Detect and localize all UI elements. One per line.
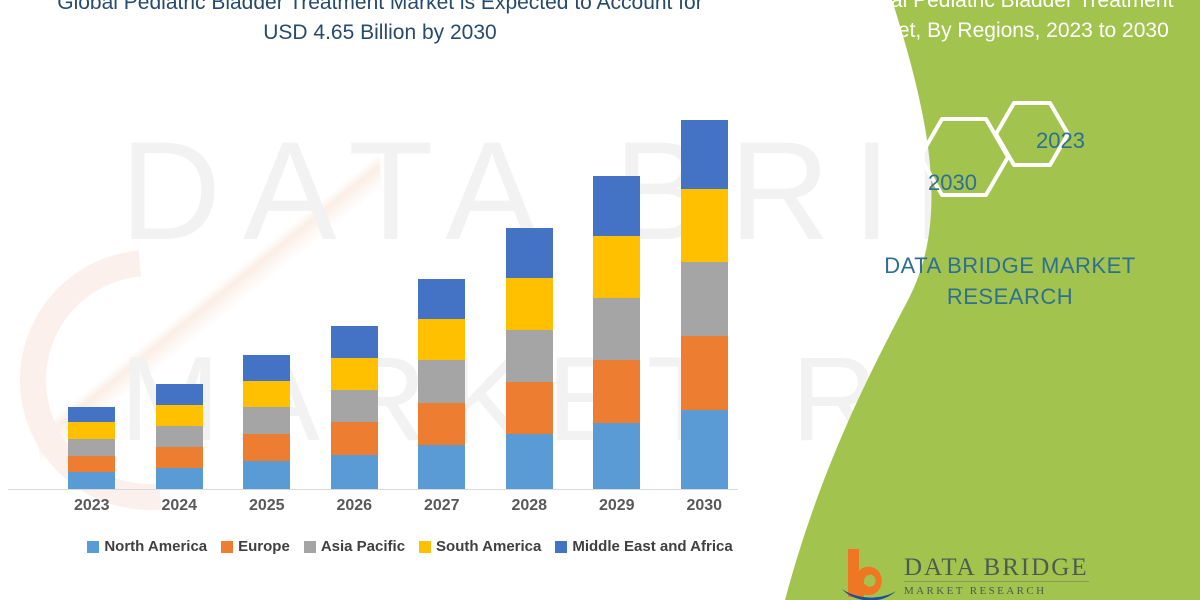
- stacked-bar[interactable]: [68, 407, 115, 489]
- logo-wordmark: DATA BRIDGE MARKET RESEARCH: [904, 545, 1089, 598]
- bar-segment-south-america[interactable]: [243, 381, 290, 407]
- bar-segment-middle-east-and-africa[interactable]: [593, 176, 640, 236]
- bar-group-2025[interactable]: [223, 120, 311, 489]
- bar-segment-south-america[interactable]: [506, 278, 553, 330]
- bar-segment-asia-pacific[interactable]: [68, 439, 115, 456]
- x-axis-line: [8, 489, 738, 490]
- bar-segment-middle-east-and-africa[interactable]: [156, 384, 203, 405]
- legend-swatch-icon: [221, 541, 233, 553]
- legend-swatch-icon: [304, 541, 316, 553]
- bar-segment-europe[interactable]: [68, 456, 115, 473]
- legend-item-asia-pacific[interactable]: Asia Pacific: [304, 538, 405, 555]
- legend-label: Middle East and Africa: [572, 538, 732, 555]
- brand-panel: Global Pediatric Bladder Treatment Marke…: [780, 0, 1200, 600]
- stacked-bar[interactable]: [506, 228, 553, 489]
- bar-group-2026[interactable]: [311, 120, 399, 489]
- x-tick-2023: 2023: [48, 497, 136, 515]
- legend-label: Asia Pacific: [321, 538, 405, 555]
- bar-segment-south-america[interactable]: [593, 236, 640, 298]
- bar-segment-north-america[interactable]: [68, 472, 115, 489]
- bar-segment-europe[interactable]: [593, 360, 640, 423]
- bar-group-2027[interactable]: [398, 120, 486, 489]
- bar-segment-south-america[interactable]: [68, 422, 115, 439]
- brand-name-line2: RESEARCH: [840, 281, 1180, 312]
- brand-name: DATA BRIDGE MARKET RESEARCH: [840, 250, 1180, 312]
- hexagon-shapes: [900, 92, 1130, 222]
- chart-title: Global Pediatric Bladder Treatment Marke…: [40, 0, 720, 48]
- bar-segment-asia-pacific[interactable]: [681, 262, 728, 336]
- bar-segment-asia-pacific[interactable]: [418, 360, 465, 402]
- bar-group-2023[interactable]: [48, 120, 136, 489]
- chart-panel: Global Pediatric Bladder Treatment Marke…: [0, 0, 840, 600]
- legend-item-south-america[interactable]: South America: [419, 538, 541, 555]
- company-logo: DATA BRIDGE MARKET RESEARCH: [840, 545, 1170, 600]
- logo-sub-text: MARKET RESEARCH: [904, 581, 1089, 598]
- x-tick-2024: 2024: [136, 497, 224, 515]
- bar-segment-asia-pacific[interactable]: [593, 298, 640, 361]
- bar-segment-north-america[interactable]: [681, 410, 728, 489]
- brand-panel-title: Global Pediatric Bladder Treatment Marke…: [840, 0, 1180, 46]
- bar-segment-south-america[interactable]: [331, 358, 378, 390]
- stacked-bar[interactable]: [418, 279, 465, 489]
- stacked-bar[interactable]: [331, 326, 378, 489]
- bar-segment-north-america[interactable]: [506, 434, 553, 489]
- legend-item-middle-east-and-africa[interactable]: Middle East and Africa: [555, 538, 732, 555]
- x-tick-2028: 2028: [486, 497, 574, 515]
- logo-main-text: DATA BRIDGE: [904, 555, 1089, 581]
- x-axis-tick-labels: 20232024202520262027202820292030: [48, 497, 748, 515]
- bar-segment-middle-east-and-africa[interactable]: [506, 228, 553, 278]
- bar-segment-north-america[interactable]: [593, 423, 640, 489]
- bar-group-2029[interactable]: [573, 120, 661, 489]
- legend-label: Europe: [238, 538, 290, 555]
- bar-group-2028[interactable]: [486, 120, 574, 489]
- bar-segment-europe[interactable]: [156, 447, 203, 468]
- stacked-bar[interactable]: [681, 120, 728, 489]
- x-tick-2029: 2029: [573, 497, 661, 515]
- bar-segment-middle-east-and-africa[interactable]: [418, 279, 465, 319]
- bar-segment-north-america[interactable]: [331, 455, 378, 489]
- legend-swatch-icon: [555, 541, 567, 553]
- chart-legend: North AmericaEuropeAsia PacificSouth Ame…: [40, 538, 780, 555]
- legend-item-europe[interactable]: Europe: [221, 538, 290, 555]
- bar-segment-europe[interactable]: [331, 422, 378, 455]
- stacked-bar[interactable]: [243, 355, 290, 489]
- legend-label: South America: [436, 538, 541, 555]
- bar-segment-asia-pacific[interactable]: [243, 407, 290, 434]
- bar-segment-asia-pacific[interactable]: [331, 390, 378, 423]
- bar-segment-europe[interactable]: [418, 403, 465, 445]
- bar-segment-asia-pacific[interactable]: [156, 426, 203, 447]
- bar-segment-europe[interactable]: [243, 434, 290, 461]
- x-tick-2025: 2025: [223, 497, 311, 515]
- bar-segment-middle-east-and-africa[interactable]: [331, 326, 378, 358]
- x-tick-2026: 2026: [311, 497, 399, 515]
- bar-segment-middle-east-and-africa[interactable]: [681, 120, 728, 189]
- bar-segment-europe[interactable]: [681, 336, 728, 410]
- data-bridge-logo-icon: [840, 545, 896, 600]
- x-tick-2027: 2027: [398, 497, 486, 515]
- bar-segment-north-america[interactable]: [156, 468, 203, 489]
- legend-item-north-america[interactable]: North America: [87, 538, 207, 555]
- hexagon-2030-label: 2030: [928, 170, 977, 196]
- brand-panel-content: Global Pediatric Bladder Treatment Marke…: [780, 0, 1200, 600]
- logo-mark-shape: [840, 545, 896, 600]
- bar-segment-middle-east-and-africa[interactable]: [68, 407, 115, 423]
- brand-name-line1: DATA BRIDGE MARKET: [840, 250, 1180, 281]
- bar-segment-south-america[interactable]: [156, 405, 203, 426]
- bar-group-2024[interactable]: [136, 120, 224, 489]
- x-tick-2030: 2030: [661, 497, 749, 515]
- stacked-bar[interactable]: [156, 384, 203, 489]
- bar-chart-plot-area: [48, 120, 748, 489]
- bar-segment-south-america[interactable]: [681, 189, 728, 262]
- legend-label: North America: [104, 538, 207, 555]
- bar-segment-middle-east-and-africa[interactable]: [243, 355, 290, 381]
- legend-swatch-icon: [419, 541, 431, 553]
- stacked-bar[interactable]: [593, 176, 640, 489]
- bar-segment-north-america[interactable]: [243, 461, 290, 489]
- bar-segment-asia-pacific[interactable]: [506, 330, 553, 382]
- bar-segment-north-america[interactable]: [418, 445, 465, 489]
- legend-swatch-icon: [87, 541, 99, 553]
- bar-segment-south-america[interactable]: [418, 319, 465, 360]
- bar-segment-europe[interactable]: [506, 382, 553, 434]
- bar-group-2030[interactable]: [661, 120, 749, 489]
- hexagon-2023-label: 2023: [1036, 128, 1085, 154]
- hexagon-badges: 2023 2030: [900, 92, 1130, 222]
